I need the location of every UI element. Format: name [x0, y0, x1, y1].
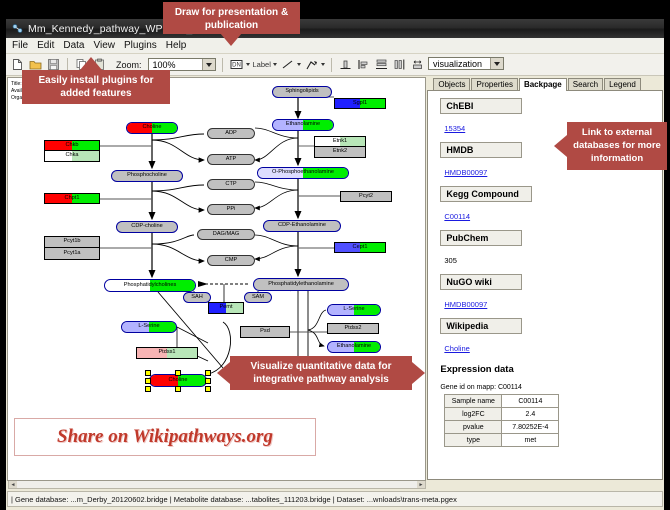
- datanode-icon[interactable]: DN: [229, 57, 244, 72]
- pathway-node-o-phosphoethanolamine[interactable]: O-Phosphoethanolamine: [257, 167, 349, 179]
- pathway-gene-ptdss2[interactable]: Ptdss2: [327, 323, 379, 334]
- expression-data-title: Expression data: [440, 364, 662, 375]
- chevron-down-icon[interactable]: [297, 63, 301, 66]
- pathway-gene-chka[interactable]: Chka: [44, 151, 100, 162]
- interaction-tool-button[interactable]: [304, 57, 325, 72]
- toolbar-separator-2: [222, 58, 223, 72]
- pathway-node-dagmag: DAG/MAG: [197, 229, 255, 240]
- status-bar: | Gene database: ...m_Derby_20120602.bri…: [7, 491, 663, 507]
- pathway-node-l-serine-left[interactable]: L-Serine: [121, 321, 177, 333]
- db-link-chebi[interactable]: 15354: [444, 124, 465, 133]
- pathway-node-sphingolipids[interactable]: Sphingolipids: [272, 86, 332, 98]
- selection-handle[interactable]: [175, 386, 181, 392]
- pathway-node-atp: ATP: [207, 154, 255, 165]
- chevron-down-icon[interactable]: [246, 63, 250, 66]
- common-width-icon[interactable]: [410, 57, 425, 72]
- menu-view[interactable]: View: [93, 40, 115, 51]
- expression-table: Sample name C00114 log2FC 2.4 pvalue 7.8…: [444, 394, 559, 447]
- pathway-gene-etnk2[interactable]: Etnk2: [314, 147, 366, 158]
- callout-draw: Draw for presentation & publication: [163, 2, 300, 34]
- row-key: log2FC: [445, 408, 502, 421]
- status-area: ◄ ► | Gene database: ...m_Derby_20120602…: [6, 480, 664, 510]
- pathway-node-sam[interactable]: SAM: [244, 292, 272, 303]
- pathway-node-cdp-ethanolamine[interactable]: CDP-Ethanolamine: [263, 220, 341, 232]
- visualization-combo-value: visualization: [433, 59, 490, 69]
- zoom-combo-value: 100%: [153, 60, 202, 70]
- line-icon[interactable]: [280, 57, 295, 72]
- db-header-pubchem: PubChem: [440, 230, 522, 246]
- callout-plugins-pointer: [80, 57, 102, 70]
- pathway-gene-chpt1[interactable]: Chpt1: [44, 193, 100, 204]
- callout-links-pointer: [554, 135, 567, 157]
- pathway-gene-ptdss1[interactable]: Ptdss1: [136, 347, 198, 359]
- pathway-gene-pemt[interactable]: Pemt: [208, 302, 244, 314]
- window-titlebar: Mm_Kennedy_pathway_WP1771_45176.gpml: [6, 19, 664, 38]
- pathway-node-ppi: PPi: [207, 204, 255, 215]
- pathway-node-cdp-choline[interactable]: CDP-choline: [116, 221, 178, 233]
- label-icon: Label: [253, 60, 271, 69]
- table-row: pvalue 7.80252E-4: [445, 421, 559, 434]
- chevron-down-icon[interactable]: [273, 63, 277, 66]
- db-header-nugo: NuGO wiki: [440, 274, 522, 290]
- db-link-hmdb[interactable]: HMDB00097: [444, 168, 487, 177]
- visualization-combo[interactable]: visualization: [428, 57, 504, 70]
- pathway-node-adp: ADP: [207, 128, 255, 139]
- row-value: met: [502, 434, 559, 447]
- tab-properties[interactable]: Properties: [471, 78, 517, 90]
- pathway-gene-pcyt2[interactable]: Pcyt2: [340, 191, 392, 202]
- toolbar-separator-3: [331, 58, 332, 72]
- chevron-down-icon[interactable]: [202, 59, 215, 70]
- tab-backpage[interactable]: Backpage: [519, 78, 567, 91]
- pathway-node-ethanolamine-2[interactable]: Ethanolamine: [327, 341, 381, 353]
- selection-handle[interactable]: [205, 386, 211, 392]
- align-top-icon[interactable]: [338, 57, 353, 72]
- db-header-wikipedia: Wikipedia: [440, 318, 522, 334]
- pathway-node-phosphatidylethanolamine[interactable]: Phosphatidylethanolamine: [253, 278, 349, 291]
- menu-help[interactable]: Help: [166, 40, 187, 51]
- row-key: Sample name: [445, 395, 502, 408]
- callout-share: Share on Wikipathways.org: [14, 418, 316, 456]
- row-value: 2.4: [502, 408, 559, 421]
- menu-file[interactable]: File: [12, 40, 28, 51]
- menu-data[interactable]: Data: [63, 40, 84, 51]
- screen: Mm_Kennedy_pathway_WP1771_45176.gpml Fil…: [0, 0, 670, 509]
- interaction-arrow-icon[interactable]: [304, 57, 319, 72]
- db-link-nugo[interactable]: HMDB00097: [444, 300, 487, 309]
- table-row: type met: [445, 434, 559, 447]
- menu-edit[interactable]: Edit: [37, 40, 54, 51]
- db-header-chebi: ChEBI: [440, 98, 522, 114]
- svg-text:DN: DN: [232, 63, 241, 69]
- pathway-gene-cept1[interactable]: Cept1: [334, 242, 386, 253]
- menubar[interactable]: File Edit Data View Plugins Help: [6, 38, 664, 54]
- pathway-node-cmp: CMP: [207, 255, 255, 266]
- pathway-node-ethanolamine-1[interactable]: Ethanolamine: [272, 119, 334, 131]
- selection-handle[interactable]: [205, 378, 211, 384]
- status-bar-text: | Gene database: ...m_Derby_20120602.bri…: [11, 495, 457, 504]
- row-key: pvalue: [445, 421, 502, 434]
- selection-handle[interactable]: [145, 386, 151, 392]
- canvas-horizontal-scrollbar[interactable]: ◄ ►: [8, 480, 426, 489]
- pathway-gene-psd[interactable]: Psd: [240, 326, 290, 338]
- db-header-hmdb: HMDB: [440, 142, 522, 158]
- pathway-gene-pcyt1b[interactable]: Pcyt1b: [44, 236, 100, 248]
- pathway-gene-etnk1[interactable]: Etnk1: [314, 136, 366, 147]
- callout-visualize-pointer-left: [217, 362, 230, 384]
- row-value: 7.80252E-4: [502, 421, 559, 434]
- stack-horizontal-icon[interactable]: [392, 57, 407, 72]
- label-tool-button[interactable]: Label: [253, 60, 277, 69]
- row-key: type: [445, 434, 502, 447]
- callout-visualize: Visualize quantitative data for integrat…: [230, 356, 412, 390]
- pathway-node-l-serine-right[interactable]: L-Serine: [327, 304, 381, 316]
- chevron-down-icon[interactable]: [321, 63, 325, 66]
- pathway-node-phosphocholine[interactable]: Phosphocholine: [111, 170, 183, 182]
- pathvisio-app-icon: [12, 23, 23, 34]
- scroll-right-icon[interactable]: ►: [417, 481, 425, 488]
- db-value-pubchem: 305: [444, 256, 457, 265]
- panel-tabs[interactable]: Objects Properties Backpage Search Legen…: [427, 77, 663, 91]
- callout-draw-pointer: [220, 33, 242, 46]
- callout-plugins: Easily install plugins for added feature…: [22, 70, 170, 104]
- menu-plugins[interactable]: Plugins: [124, 40, 157, 51]
- selection-handle[interactable]: [145, 378, 151, 384]
- db-link-wikipedia[interactable]: Choline: [444, 344, 469, 353]
- datanode-tool-button[interactable]: DN: [229, 57, 250, 72]
- table-row: log2FC 2.4: [445, 408, 559, 421]
- pathway-gene-pcyt1a[interactable]: Pcyt1a: [44, 248, 100, 260]
- pathway-node-choline-top[interactable]: Choline: [126, 122, 178, 134]
- pathway-node-phosphatidylcholines[interactable]: Phosphatidylcholines: [104, 279, 196, 292]
- align-left-icon[interactable]: [356, 57, 371, 72]
- zoom-label: Zoom:: [116, 60, 142, 70]
- pathway-node-ctp: CTP: [207, 179, 255, 190]
- tab-objects[interactable]: Objects: [433, 78, 470, 90]
- tab-search[interactable]: Search: [568, 78, 603, 90]
- tab-legend[interactable]: Legend: [604, 78, 641, 90]
- stack-vertical-icon[interactable]: [374, 57, 389, 72]
- selection-handle[interactable]: [205, 370, 211, 376]
- selection-handle[interactable]: [175, 370, 181, 376]
- scroll-left-icon[interactable]: ◄: [9, 481, 17, 488]
- table-row: Sample name C00114: [445, 395, 559, 408]
- callout-share-text: Share on Wikipathways.org: [57, 426, 273, 448]
- db-header-kegg: Kegg Compound: [440, 186, 532, 202]
- db-link-kegg[interactable]: C00114: [444, 212, 470, 221]
- gene-id-on-mapp: Gene id on mapp: C00114: [440, 384, 662, 391]
- line-tool-button[interactable]: [280, 57, 301, 72]
- pathway-gene-chkb[interactable]: Chkb: [44, 140, 100, 151]
- selection-handle[interactable]: [145, 370, 151, 376]
- callout-visualize-pointer-right: [412, 362, 425, 384]
- callout-links: Link to external databases for more info…: [567, 122, 667, 170]
- chevron-down-icon[interactable]: [490, 58, 503, 69]
- pathway-node-sah[interactable]: SAH: [183, 292, 211, 303]
- pathway-gene-sgpl1[interactable]: Sgpl1: [334, 98, 386, 109]
- row-value: C00114: [502, 395, 559, 408]
